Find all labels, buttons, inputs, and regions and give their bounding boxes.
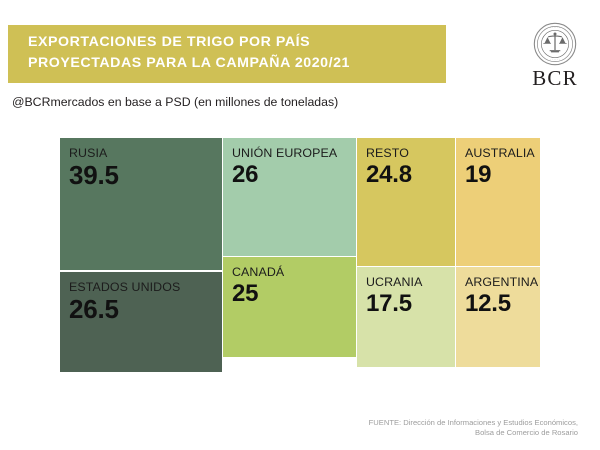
treemap-cell-label: CANADÁ (232, 265, 356, 279)
treemap-cell-label: UCRANIA (366, 275, 455, 289)
page-title-line-2: PROYECTADAS PARA LA CAMPAÑA 2020/21 (28, 53, 446, 74)
treemap-cell-value: 17.5 (366, 290, 455, 317)
page-title-line-1: EXPORTACIONES DE TRIGO POR PAÍS (28, 32, 446, 53)
treemap-cell: RUSIA39.5 (60, 138, 222, 270)
source-note-line-1: FUENTE: Dirección de Informaciones y Est… (369, 418, 578, 428)
svg-text:· · · · · ·: · · · · · · (550, 26, 560, 30)
treemap-cell-value: 39.5 (69, 161, 222, 190)
treemap-cell-label: RUSIA (69, 146, 222, 160)
title-banner: EXPORTACIONES DE TRIGO POR PAÍS PROYECTA… (8, 25, 446, 83)
treemap-cell-value: 12.5 (465, 290, 540, 317)
treemap-cell: UCRANIA17.5 (357, 267, 455, 367)
treemap-cell: AUSTRALIA19 (456, 138, 540, 266)
bcr-logo-text: BCR (519, 67, 591, 89)
treemap-cell-value: 24.8 (366, 161, 455, 188)
treemap-cell-label: UNIÓN EUROPEA (232, 146, 356, 160)
treemap-cell-label: ESTADOS UNIDOS (69, 280, 222, 294)
scales-of-justice-seal-icon: · · · · · · · · · · · · (533, 22, 577, 66)
treemap-chart: RUSIA39.5UNIÓN EUROPEA26RESTO24.8AUSTRAL… (60, 138, 540, 372)
treemap-cell: UNIÓN EUROPEA26 (223, 138, 356, 256)
treemap-cell-value: 25 (232, 280, 356, 307)
treemap-cell: RESTO24.8 (357, 138, 455, 266)
treemap-cell-value: 26.5 (69, 295, 222, 324)
svg-text:· · · · · ·: · · · · · · (550, 58, 560, 62)
treemap-cell-label: ARGENTINA (465, 275, 540, 289)
treemap-cell-value: 19 (465, 161, 540, 188)
treemap-cell-label: RESTO (366, 146, 455, 160)
treemap-cell: ARGENTINA12.5 (456, 267, 540, 367)
source-note-line-2: Bolsa de Comercio de Rosario (369, 428, 578, 438)
treemap-cell: CANADÁ25 (223, 257, 356, 357)
chart-subtitle: @BCRmercados en base a PSD (en millones … (12, 95, 338, 109)
treemap-cell: ESTADOS UNIDOS26.5 (60, 272, 222, 372)
treemap-cell-label: AUSTRALIA (465, 146, 540, 160)
source-note: FUENTE: Dirección de Informaciones y Est… (369, 418, 578, 439)
treemap-cell-value: 26 (232, 161, 356, 188)
bcr-logo: · · · · · · · · · · · · BCR (519, 22, 591, 89)
